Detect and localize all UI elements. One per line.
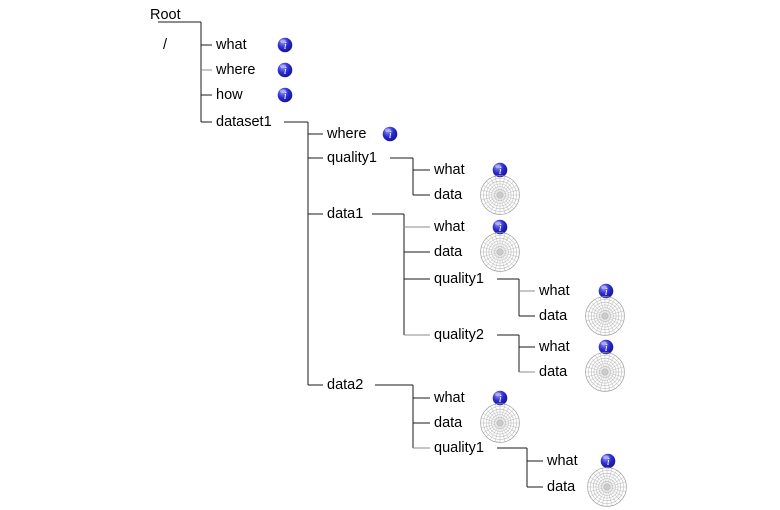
info-icon[interactable]: i	[277, 62, 293, 78]
tree-node-dataset1[interactable]: dataset1	[216, 114, 272, 130]
tree-node-what[interactable]: what	[434, 162, 465, 178]
tree-node-quality1[interactable]: quality1	[434, 440, 484, 456]
tree-node-data[interactable]: data	[539, 364, 567, 380]
polar-plot-icon[interactable]	[584, 351, 626, 393]
tree-connector-lines	[0, 0, 780, 510]
tree-node-quality2[interactable]: quality2	[434, 327, 484, 343]
root-node-label[interactable]: Root	[150, 7, 181, 23]
polar-plot-icon[interactable]	[479, 231, 521, 273]
tree-node-quality1[interactable]: quality1	[327, 150, 377, 166]
tree-node-data[interactable]: data	[434, 415, 462, 431]
tree-node-data[interactable]: data	[434, 187, 462, 203]
tree-node-what[interactable]: what	[539, 339, 570, 355]
tree-node-what[interactable]: what	[434, 390, 465, 406]
tree-node-data[interactable]: data	[539, 308, 567, 324]
info-icon[interactable]: i	[277, 87, 293, 103]
tree-node-data[interactable]: data	[434, 244, 462, 260]
tree-node-data2[interactable]: data2	[327, 377, 363, 393]
tree-node-data[interactable]: data	[547, 479, 575, 495]
tree-node-what[interactable]: what	[216, 37, 247, 53]
tree-node-what[interactable]: what	[539, 283, 570, 299]
tree-node-where[interactable]: where	[216, 62, 256, 78]
root-path-label: /	[163, 37, 167, 53]
tree-node-quality1[interactable]: quality1	[434, 271, 484, 287]
tree-node-what[interactable]: what	[547, 453, 578, 469]
info-icon[interactable]: i	[382, 126, 398, 142]
info-icon[interactable]: i	[277, 37, 293, 53]
polar-plot-icon[interactable]	[479, 174, 521, 216]
svg-text:i: i	[284, 41, 287, 52]
svg-text:i: i	[284, 91, 287, 102]
tree-node-where[interactable]: where	[327, 126, 367, 142]
polar-plot-icon[interactable]	[479, 402, 521, 444]
tree-node-data1[interactable]: data1	[327, 206, 363, 222]
svg-text:i: i	[284, 66, 287, 77]
tree-node-what[interactable]: what	[434, 219, 465, 235]
svg-text:i: i	[389, 130, 392, 141]
tree-node-how[interactable]: how	[216, 87, 243, 103]
tree-diagram-canvas: Root / whatiwhereihowidataset1whereiqual…	[0, 0, 780, 510]
polar-plot-icon[interactable]	[584, 295, 626, 337]
polar-plot-icon[interactable]	[586, 466, 628, 508]
